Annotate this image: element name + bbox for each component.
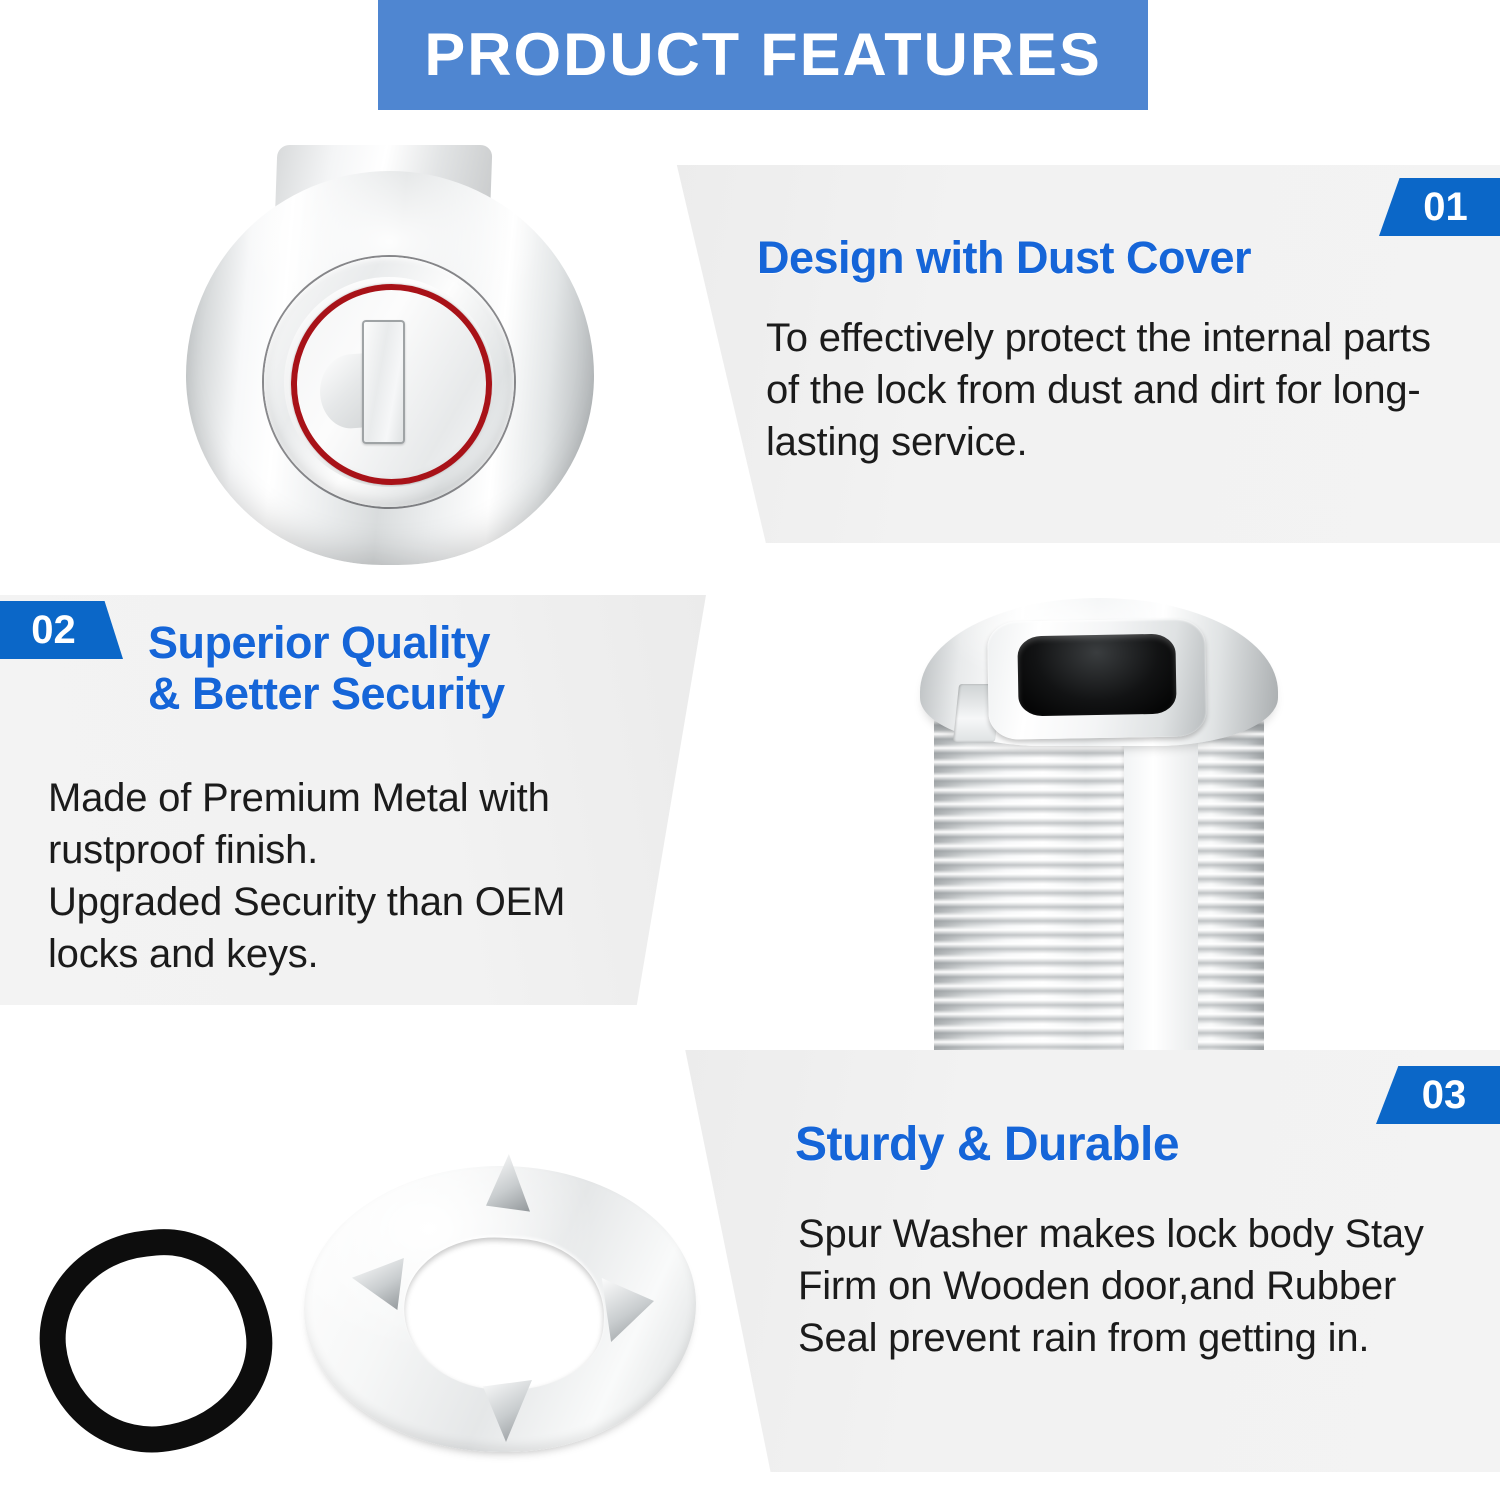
- spur-washer-photo: [300, 1150, 700, 1462]
- feature-badge-02: 02: [0, 601, 123, 659]
- feature-number-02: 02: [31, 610, 76, 650]
- feature-title-01: Design with Dust Cover: [757, 232, 1251, 283]
- feature-body-01: To effectively protect the internal part…: [766, 312, 1466, 468]
- barrel-cam-hole: [1017, 634, 1176, 717]
- feature-body-02-line4: locks and keys.: [48, 928, 678, 980]
- feature-title-03: Sturdy & Durable: [795, 1118, 1179, 1173]
- lock-head-photo: [180, 145, 600, 565]
- feature-badge-01: 01: [1379, 178, 1500, 236]
- feature-title-02-line1: Superior Quality: [148, 617, 668, 668]
- lock-keyhole-slot: [362, 320, 405, 444]
- page-title: PRODUCT FEATURES: [424, 25, 1102, 85]
- feature-body-02: Made of Premium Metal with rustproof fin…: [48, 772, 678, 980]
- feature-body-03: Spur Washer makes lock body Stay Firm on…: [798, 1208, 1458, 1364]
- feature-body-02-line2: rustproof finish.: [48, 824, 678, 876]
- feature-title-02-line2: & Better Security: [148, 668, 668, 719]
- feature-number-03: 03: [1422, 1075, 1467, 1115]
- feature-title-02: Superior Quality & Better Security: [148, 617, 668, 720]
- threaded-barrel-photo: [900, 592, 1300, 1064]
- feature-body-02-line1: Made of Premium Metal with: [48, 772, 678, 824]
- rubber-o-ring-seal: [29, 1218, 283, 1463]
- feature-body-02-line3: Upgraded Security than OEM: [48, 876, 678, 928]
- product-features-banner: PRODUCT FEATURES: [378, 0, 1148, 110]
- feature-number-01: 01: [1423, 187, 1468, 227]
